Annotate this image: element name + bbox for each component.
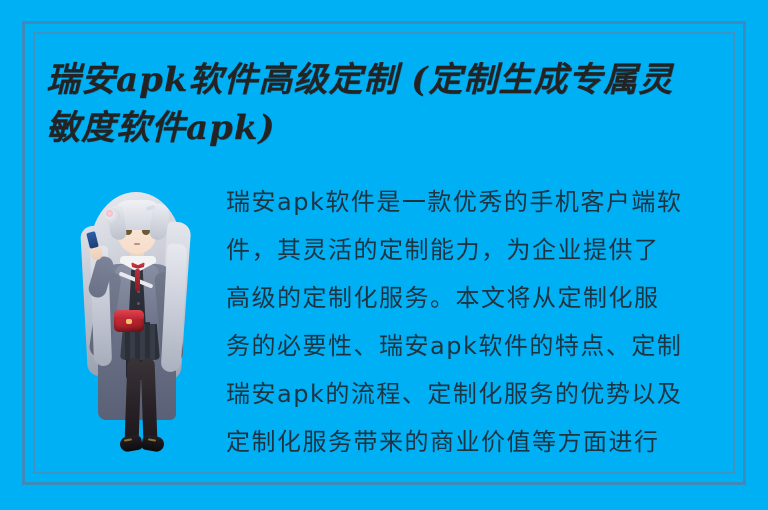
- vest-button-lower: [137, 302, 140, 305]
- page-title: 瑞安apk软件高级定制 (定制生成专属灵 敏度软件apk): [46, 56, 706, 152]
- page-title-line-2: 敏度软件apk): [46, 104, 706, 152]
- anime-girl-illustration: [62, 186, 212, 471]
- shoe-left: [119, 434, 143, 453]
- article-body: 瑞安apk软件是一款优秀的手机客户端软 件，其灵活的定制能力，为企业提供了 高级…: [226, 178, 726, 466]
- page-title-line-1: 瑞安apk软件高级定制 (定制生成专属灵: [46, 56, 706, 104]
- article-body-line-1: 瑞安apk软件是一款优秀的手机客户端软: [226, 178, 726, 226]
- ribbon-tail: [135, 269, 140, 291]
- poster-canvas: 瑞安apk软件高级定制 (定制生成专属灵 敏度软件apk) 瑞安apk软件是一款…: [0, 0, 768, 510]
- article-body-line-4: 务的必要性、瑞安apk软件的特点、定制: [226, 322, 726, 370]
- leg-right: [141, 358, 158, 444]
- article-body-line-2: 件，其灵活的定制能力，为企业提供了: [226, 226, 726, 274]
- shoe-right: [141, 434, 165, 453]
- article-body-line-6: 定制化服务带来的商业价值等方面进行: [226, 418, 726, 466]
- hair-flower-ornament: [106, 210, 113, 217]
- shoulder-bag-flap: [114, 310, 144, 319]
- article-body-line-3: 高级的定制化服务。本文将从定制化服: [226, 274, 726, 322]
- mouth: [134, 243, 140, 245]
- article-body-line-5: 瑞安apk的流程、定制化服务的优势以及: [226, 370, 726, 418]
- leg-left: [125, 358, 142, 444]
- shoulder-bag-clasp: [126, 319, 132, 324]
